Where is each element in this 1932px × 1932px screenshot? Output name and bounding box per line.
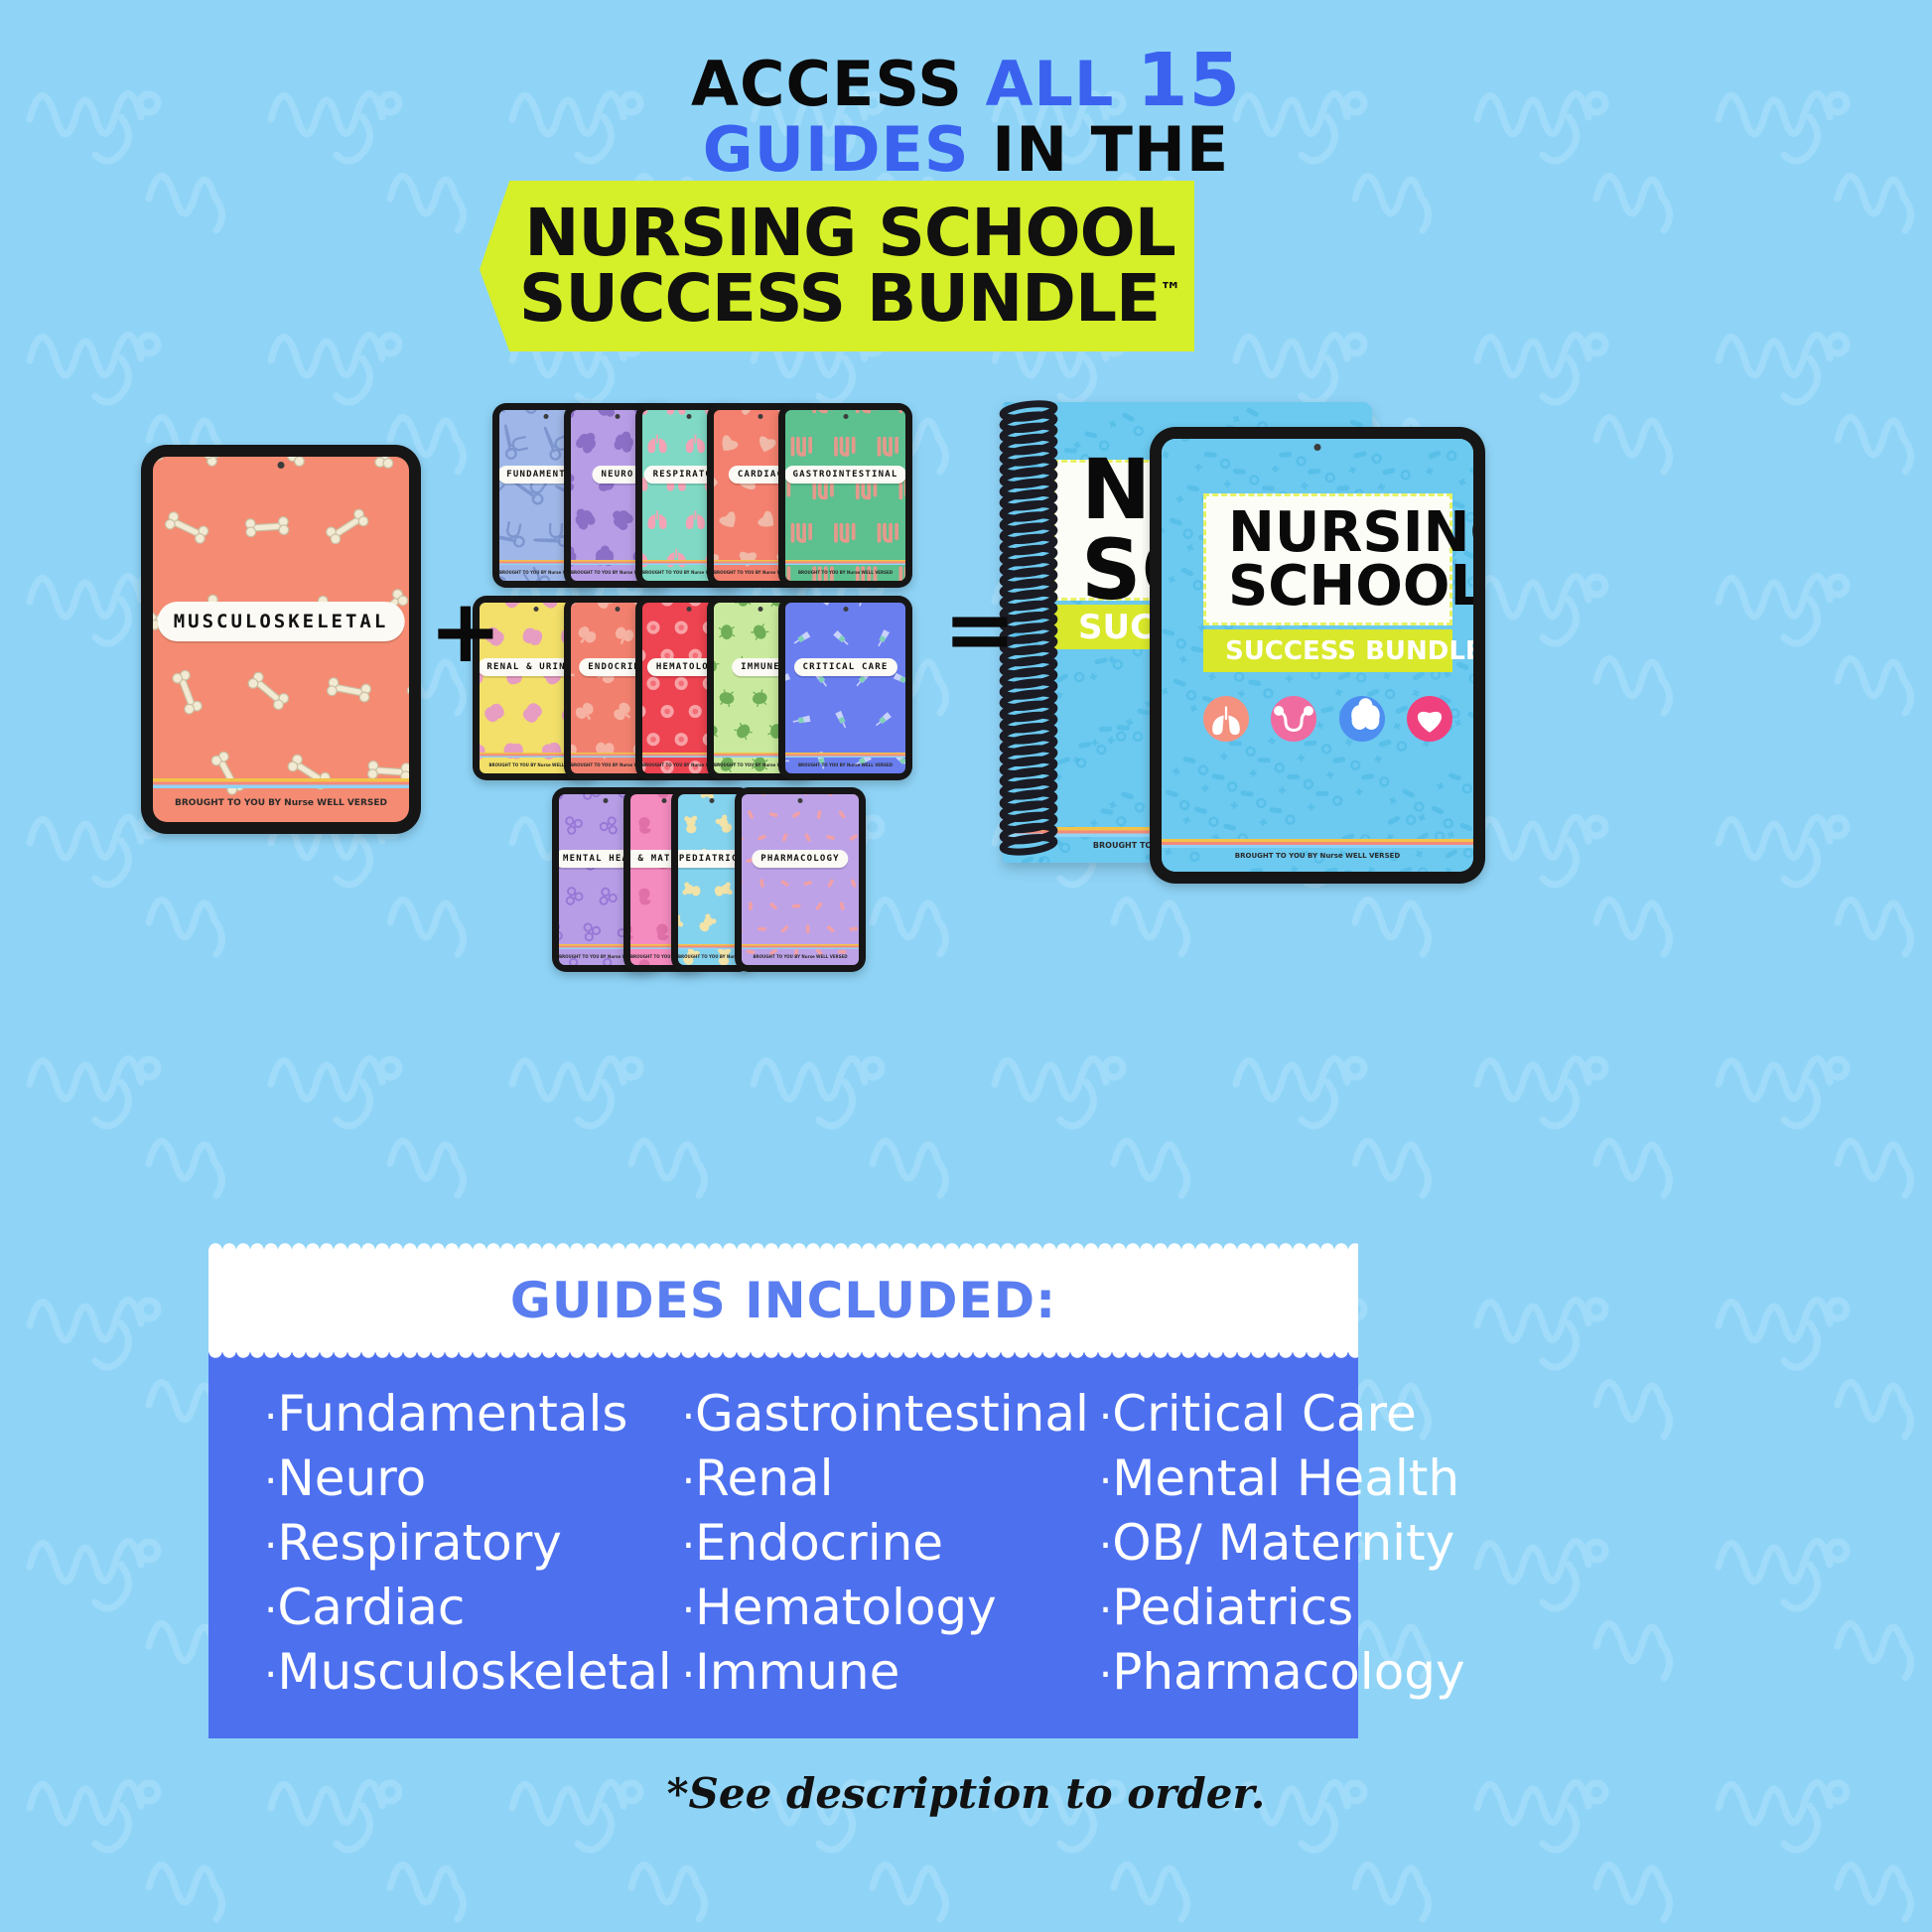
guide-list-item-label: Fundamentals [277,1385,627,1443]
cover-title-line-2: SCHOOL [1228,560,1449,614]
tablet-mockup-gastrointestinal: GASTROINTESTINALBROUGHT TO YOU BY Nurse … [778,403,912,588]
guide-list-item: ·Pharmacology [1099,1640,1465,1705]
banner-line-2-text: SUCCESS BUNDLE [519,260,1160,337]
guide-list-item-label: Hematology [695,1579,997,1636]
guide-title-pill: MUSCULOSKELETAL [158,602,405,641]
guide-list-item-label: Gastrointestinal [695,1385,1089,1443]
guides-included-header: GUIDES INCLUDED: [208,1249,1358,1352]
tablet-camera-dot [687,414,692,419]
guide-list-item: ·Musculoskeletal [264,1640,672,1705]
guide-list-item-label: Pharmacology [1112,1643,1464,1701]
headline-inthe: IN THE [992,113,1229,186]
cover-stripe-band [785,753,905,758]
headline-count: 15 [1137,38,1241,123]
cover-brandline: BROUGHT TO YOU BY Nurse WELL VERSED [785,570,905,575]
guide-list-item-label: Cardiac [277,1579,465,1636]
cover-brandline: BROUGHT TO YOU BY Nurse WELL VERSED [742,954,859,959]
cover-stripe-band [153,778,409,788]
bundle-cover: NURSING SCHOOL SUCCESS BUNDLE BROUGHT TO… [1162,439,1473,872]
uterus-icon [1271,696,1316,742]
bullet-dot: · [682,1392,695,1441]
guide-list-item-label: OB/ Maternity [1112,1514,1454,1572]
guide-list-item: ·Critical Care [1099,1382,1465,1447]
tablet-mockup-critical-care: CRITICAL CAREBROUGHT TO YOU BY Nurse WEL… [778,596,912,780]
tablet-camera-dot [604,798,609,803]
guide-list-item: ·Hematology [682,1576,1089,1640]
headline-access: ACCESS [691,48,985,120]
guides-included-title: GUIDES INCLUDED: [510,1272,1056,1329]
tablet-camera-dot [798,798,803,803]
bullet-dot: · [264,1521,277,1570]
cover-brandline: BROUGHT TO YOU BY Nurse WELL VERSED [785,762,905,767]
headline-all: ALL [985,48,1137,120]
tablet-screen: CRITICAL CAREBROUGHT TO YOU BY Nurse WEL… [785,603,905,773]
cover-icon-row [1203,696,1452,742]
bullet-dot: · [264,1650,277,1699]
banner-text: NURSING SCHOOL SUCCESS BUNDLE™ [480,181,1194,351]
tablet-mockup-success-bundle: NURSING SCHOOL SUCCESS BUNDLE BROUGHT TO… [1150,427,1485,884]
tablet-camera-dot [843,607,848,612]
tablet-camera-dot [278,462,285,469]
tablet-camera-dot [687,607,692,612]
banner-line-2: SUCCESS BUNDLE™ [519,266,1180,332]
trademark-symbol: ™ [1160,279,1180,304]
bullet-dot: · [682,1456,695,1505]
guide-list-item: ·Renal [682,1447,1089,1511]
page-headline: ACCESS ALL 15 GUIDES IN THE [0,44,1932,182]
bullet-dot: · [682,1586,695,1634]
bullet-dot: · [264,1392,277,1441]
tablet-camera-dot [616,607,621,612]
cover-title-box: NURSING SCHOOL [1203,493,1452,625]
guide-list-item: ·Endocrine [682,1511,1089,1576]
cover-stripe-band [742,944,859,949]
guide-list-item: ·Neuro [264,1447,672,1511]
lungs-icon [1203,696,1249,742]
bullet-dot: · [264,1456,277,1505]
guide-list-item-label: Respiratory [277,1514,561,1572]
guide-list-item-label: Musculoskeletal [277,1643,671,1701]
tablet-camera-dot [1314,444,1321,451]
guide-title-pill: GASTROINTESTINAL [785,466,905,483]
guide-list-item: ·Pediatrics [1099,1576,1465,1640]
guide-list-item-label: Endocrine [695,1514,943,1572]
guide-list-item-label: Critical Care [1112,1385,1417,1443]
bundle-name-banner: NURSING SCHOOL SUCCESS BUNDLE™ [480,181,1194,351]
guide-list-item-label: Neuro [277,1449,426,1507]
guide-list-item: ·Fundamentals [264,1382,672,1447]
tablet-camera-dot [544,414,549,419]
brain-icon [1339,696,1385,742]
tablet-camera-dot [616,414,621,419]
guides-column-1: ·Fundamentals·Neuro·Respiratory·Cardiac·… [264,1382,672,1705]
guide-list-item: ·Mental Health [1099,1447,1465,1511]
tablet-screen: MUSCULOSKELETALBROUGHT TO YOU BY Nurse W… [153,457,409,822]
guide-title-pill: CRITICAL CARE [793,658,897,676]
cover-subtitle: SUCCESS BUNDLE [1203,629,1452,672]
bullet-dot: · [1099,1456,1112,1505]
footnote-text: *See description to order. [0,1769,1932,1818]
banner-line-1: NURSING SCHOOL [524,201,1175,266]
cover-brandline: BROUGHT TO YOU BY Nurse WELL VERSED [1162,852,1473,860]
guide-title-pill: PHARMACOLOGY [752,850,848,868]
tablet-mockup-musculoskeletal: MUSCULOSKELETALBROUGHT TO YOU BY Nurse W… [141,445,421,834]
guide-list-item-label: Immune [695,1643,899,1701]
tablet-camera-dot [710,798,715,803]
bullet-dot: · [1099,1650,1112,1699]
headline-line-1: ACCESS ALL 15 [0,44,1932,118]
guides-included-list: ·Fundamentals·Neuro·Respiratory·Cardiac·… [208,1352,1358,1738]
tablet-screen: NURSING SCHOOL SUCCESS BUNDLE BROUGHT TO… [1162,439,1473,872]
tablet-screen: PHARMACOLOGYBROUGHT TO YOU BY Nurse WELL… [742,794,859,965]
guides-column-3: ·Critical Care·Mental Health·OB/ Materni… [1099,1382,1465,1705]
guide-list-item-label: Renal [695,1449,833,1507]
guide-list-item-label: Mental Health [1112,1449,1459,1507]
plus-operator: + [429,588,502,675]
guide-list-item: ·Gastrointestinal [682,1382,1089,1447]
headline-line-2: GUIDES IN THE [0,118,1932,181]
cover-brandline: BROUGHT TO YOU BY Nurse WELL VERSED [153,798,409,808]
tablet-camera-dot [662,798,667,803]
guides-column-2: ·Gastrointestinal·Renal·Endocrine·Hemato… [682,1382,1089,1705]
tablet-camera-dot [759,607,763,612]
bullet-dot: · [1099,1392,1112,1441]
guide-list-item: ·Immune [682,1640,1089,1705]
tablet-mockup-pharmacology: PHARMACOLOGYBROUGHT TO YOU BY Nurse WELL… [735,787,866,972]
tablet-camera-dot [759,414,763,419]
guides-included-box: GUIDES INCLUDED: ·Fundamentals·Neuro·Res… [208,1249,1358,1738]
equals-operator: = [943,586,1017,673]
bullet-dot: · [264,1586,277,1634]
guide-list-item-label: Pediatrics [1112,1579,1353,1636]
bullet-dot: · [682,1650,695,1699]
cover-title-line-1: NURSING [1228,506,1449,560]
bullet-dot: · [1099,1586,1112,1634]
tablet-camera-dot [534,607,539,612]
guide-list-item: ·Cardiac [264,1576,672,1640]
guide-list-item: ·OB/ Maternity [1099,1511,1465,1576]
cover-stripe-band [785,560,905,565]
headline-guides: GUIDES [703,113,992,186]
tablet-camera-dot [843,414,848,419]
tablet-screen: GASTROINTESTINALBROUGHT TO YOU BY Nurse … [785,410,905,581]
cover-stripe-band [1162,839,1473,848]
heart-icon [1407,696,1452,742]
guide-list-item: ·Respiratory [264,1511,672,1576]
bullet-dot: · [1099,1521,1112,1570]
bullet-dot: · [682,1521,695,1570]
